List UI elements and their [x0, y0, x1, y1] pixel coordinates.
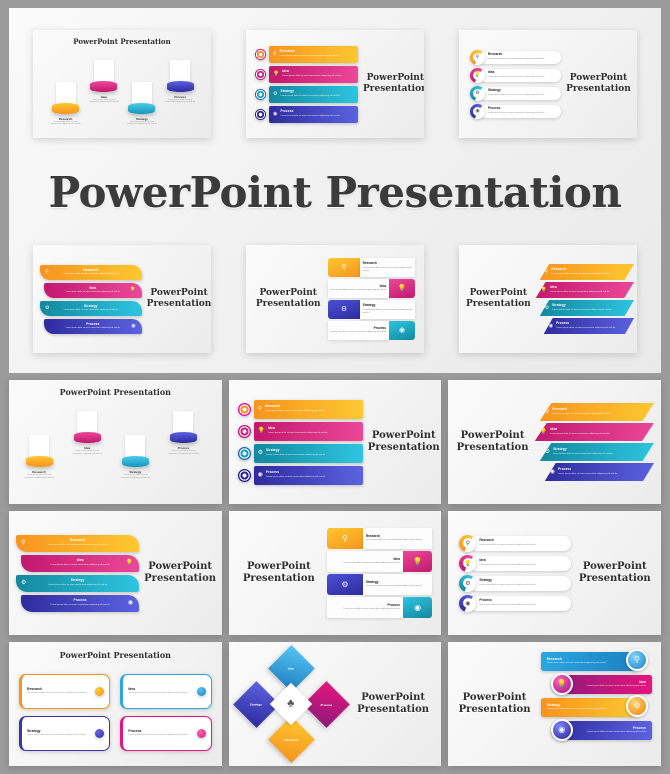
- grid-slide-diamond-cycle[interactable]: Idea Process Research Strategy ♣: [229, 642, 442, 766]
- step-item[interactable]: 💡 Idea Lorem ipsum dolor sit amet consec…: [238, 422, 363, 441]
- step-label: Idea: [380, 285, 386, 288]
- slide-title: PowerPoint Presentation: [73, 38, 170, 47]
- step-desc: Lorem ipsum dolor sit amet consectetur a…: [66, 327, 120, 330]
- step-item[interactable]: ⚙ Strategy Lorem ipsum dolor sit amet co…: [255, 86, 358, 103]
- lightbulb-icon: 💡: [413, 558, 423, 566]
- step-desc: Lorem ipsum dolor sit amet consectetur a…: [266, 476, 325, 479]
- step-item[interactable]: Research Lorem ipsum dolor sit amet cons…: [23, 435, 55, 480]
- step-desc: Lorem ipsum dolor sit amet consectetur a…: [366, 585, 433, 588]
- step-item[interactable]: Process Lorem ipsum dolor sit amet conse…: [328, 321, 415, 340]
- step-desc: Lorem ipsum dolor sit amet consectetur a…: [71, 450, 103, 456]
- step-label: Process: [374, 327, 386, 330]
- step-item[interactable]: Idea Lorem ipsum dolor sit amet consecte…: [89, 60, 119, 105]
- grid-slide-stacked-chevrons[interactable]: PowerPointPresentation ⚲ Research Lorem …: [448, 380, 661, 504]
- step-desc: Lorem ipsum dolor sit amet consectetur a…: [64, 309, 118, 312]
- slide-rounded-pills[interactable]: ⚲ Research Lorem ipsum dolor sit amet co…: [459, 30, 637, 138]
- slide-thumbnail-grid: PowerPoint Presentation Research Lorem i…: [9, 380, 661, 766]
- step-item[interactable]: ◉ Process Lorem ipsum dolor sit amet con…: [238, 466, 363, 485]
- step-desc: Lorem ipsum dolor sit amet consectetur a…: [282, 75, 341, 78]
- lightbulb-icon: 💡: [126, 560, 133, 566]
- slide-title: PowerPointPresentation: [363, 73, 424, 95]
- magnifier-icon: ⚲: [21, 540, 25, 546]
- step-label: Research: [479, 539, 535, 542]
- step-label: Research: [70, 539, 85, 542]
- target-ring-icon: [255, 49, 266, 60]
- step-item[interactable]: 💡 Idea Lorem ipsum dolor sit amet consec…: [536, 282, 634, 298]
- step-item[interactable]: Research Lorem ipsum dolor sit amet cons…: [51, 82, 81, 127]
- step-label: Research: [280, 50, 339, 53]
- step-desc: Lorem ipsum dolor sit amet consectetur a…: [344, 562, 400, 565]
- arc-ring-icon: ◉: [459, 595, 476, 612]
- step-desc: Lorem ipsum dolor sit amet consectetur a…: [553, 453, 612, 456]
- arc-ring-icon: 💡: [470, 68, 485, 83]
- lightbulb-icon: 💡: [273, 72, 279, 77]
- step-item[interactable]: Process Lorem ipsum dolor sit amet conse…: [165, 60, 195, 105]
- step-item[interactable]: ⚙ Strategy Lorem ipsum dolor sit amet co…: [328, 300, 415, 319]
- magnifier-bubble-icon: ⚲: [626, 649, 648, 671]
- step-item[interactable]: ◉ Process Lorem ipsum dolor sit amet con…: [545, 463, 654, 481]
- grid-slide-banded-rows[interactable]: ⚲ Research Lorem ipsum dolor sit amet co…: [229, 380, 442, 504]
- pills-graphic: ⚲ Research Lorem ipsum dolor sit amet co…: [466, 36, 561, 132]
- step-label: Strategy: [488, 89, 544, 92]
- lightbulb-icon: 💡: [258, 428, 265, 434]
- step-item[interactable]: ⚙ Strategy Lorem ipsum dolor sit amet co…: [238, 444, 363, 463]
- slide-title: PowerPoint Presentation: [60, 651, 171, 661]
- fingerprint-icon: ◉: [128, 600, 133, 606]
- bands-graphic: ⚲ Research Lorem ipsum dolor sit amet co…: [236, 386, 363, 498]
- page-title: PowerPoint Presentation: [33, 168, 637, 217]
- fingerprint-icon: ◉: [273, 112, 277, 117]
- step-desc: Lorem ipsum dolor sit amet consectetur a…: [48, 584, 107, 587]
- step-label: Strategy: [552, 304, 611, 307]
- grid-slide-rounded-quad-cards[interactable]: PowerPoint Presentation Research Lorem i…: [9, 642, 222, 766]
- step-desc: Lorem ipsum dolor sit amet consectetur a…: [547, 708, 606, 711]
- step-desc: Lorem ipsum dolor sit amet consectetur a…: [344, 608, 400, 611]
- gear-icon: ⚙: [273, 92, 277, 97]
- step-desc: Lorem ipsum dolor sit amet consectetur a…: [552, 413, 611, 416]
- step-label: Research: [366, 535, 433, 538]
- step-label: Research: [285, 737, 299, 741]
- step-desc: Lorem ipsum dolor sit amet consectetur a…: [50, 564, 109, 567]
- step-item[interactable]: 💡 Idea Lorem ipsum dolor sit amet consec…: [535, 423, 654, 441]
- step-label: Idea: [89, 287, 96, 290]
- step-item[interactable]: Process Lorem ipsum dolor sit amet conse…: [120, 716, 211, 751]
- step-item[interactable]: ◉ Process Lorem ipsum dolor sit amet con…: [459, 595, 570, 612]
- step-item[interactable]: ⚲ Research Lorem ipsum dolor sit amet co…: [470, 50, 561, 65]
- gear-icon: ⚙: [258, 450, 263, 456]
- step-label: Strategy: [363, 304, 415, 307]
- step-item[interactable]: Strategy Lorem ipsum dolor sit amet cons…: [127, 82, 157, 127]
- slide-title: PowerPointPresentation: [253, 288, 323, 310]
- step-item[interactable]: ⚲ Research Lorem ipsum dolor sit amet co…: [540, 264, 634, 280]
- fingerprint-badge-icon: [197, 729, 206, 738]
- step-item[interactable]: ⚙ Strategy Lorem ipsum dolor sit amet co…: [540, 300, 634, 316]
- step-desc: Lorem ipsum dolor sit amet consectetur a…: [488, 112, 544, 115]
- fingerprint-icon: ◉: [258, 472, 263, 478]
- step-desc: Lorem ipsum dolor sit amet consectetur a…: [280, 95, 339, 98]
- step-item[interactable]: ⚙ Strategy Lorem ipsum dolor sit amet co…: [16, 575, 139, 592]
- quad-card-grid: Research Lorem ipsum dolor sit amet cons…: [19, 674, 212, 757]
- step-desc: Lorem ipsum dolor sit amet consectetur a…: [479, 584, 535, 587]
- step-item[interactable]: ⚙ Strategy Lorem ipsum dolor sit amet co…: [459, 575, 570, 592]
- step-desc: Lorem ipsum dolor sit amet consectetur a…: [363, 309, 415, 315]
- arc-ring-icon: ⚲: [459, 535, 476, 552]
- magnifier-icon: ⚲: [258, 406, 262, 412]
- slide-title: PowerPointPresentation: [352, 692, 434, 716]
- slide-zigzag-cards[interactable]: PowerPointPresentation ⚲ Research Lorem …: [246, 245, 424, 353]
- step-item[interactable]: ⚲ Research Lorem ipsum dolor sit amet co…: [40, 265, 142, 280]
- arc-ring-icon: 💡: [459, 555, 476, 572]
- template-preview-page: PowerPoint Presentation Research Lorem i…: [0, 0, 670, 774]
- arc-ring-icon: ⚙: [470, 86, 485, 101]
- magnifier-icon: ⚲: [545, 270, 549, 275]
- magnifier-icon: ⚲: [342, 535, 348, 543]
- step-item[interactable]: Idea Lorem ipsum dolor sit amet consecte…: [71, 411, 103, 456]
- step-label: Strategy: [71, 579, 85, 582]
- step-label: Research: [488, 53, 544, 56]
- step-item[interactable]: ⚙ Strategy Lorem ipsum dolor sit amet co…: [470, 86, 561, 101]
- step-desc: Lorem ipsum dolor sit amet consectetur a…: [280, 115, 339, 118]
- fingerprint-icon: ◉: [414, 604, 421, 612]
- step-label: Process: [633, 727, 646, 730]
- step-desc: Lorem ipsum dolor sit amet consectetur a…: [119, 474, 151, 480]
- step-item[interactable]: ⚲ Research Lorem ipsum dolor sit amet co…: [328, 258, 415, 277]
- step-item[interactable]: Strategy Lorem ipsum dolor sit amet cons…: [19, 716, 110, 751]
- target-ring-icon: [238, 403, 251, 416]
- step-label: Idea: [282, 70, 341, 73]
- step-label: Idea: [550, 286, 609, 289]
- bands-graphic: ⚲ Research Lorem ipsum dolor sit amet co…: [253, 36, 358, 132]
- target-ring-icon: [238, 469, 251, 482]
- magnifier-icon: ⚲: [45, 270, 49, 275]
- step-desc: Lorem ipsum dolor sit amet consectetur a…: [330, 331, 386, 334]
- step-desc: Lorem ipsum dolor sit amet consectetur a…: [89, 99, 119, 105]
- pills-graphic: ⚲ Research Lorem ipsum dolor sit amet co…: [455, 517, 570, 629]
- magnifier-badge-icon: [95, 687, 104, 696]
- step-desc: Lorem ipsum dolor sit amet consectetur a…: [550, 433, 609, 436]
- step-desc: Lorem ipsum dolor sit amet consectetur a…: [550, 291, 609, 294]
- step-label: Research: [83, 269, 98, 272]
- diamond-graphic: Idea Process Research Strategy ♣: [236, 648, 347, 760]
- slide-title: PowerPoint Presentation: [60, 388, 171, 398]
- gear-bubble-icon: ⚙: [626, 695, 648, 717]
- slide-title: PowerPointPresentation: [455, 692, 533, 716]
- step-desc: Lorem ipsum dolor sit amet consectetur a…: [128, 692, 187, 695]
- step-label: Idea: [393, 558, 399, 561]
- target-ring-icon: [238, 425, 251, 438]
- gear-icon: ⚙: [545, 449, 550, 455]
- step-item[interactable]: ⚲ Research Lorem ipsum dolor sit amet co…: [327, 528, 432, 549]
- tree-icon: ♣: [288, 698, 295, 710]
- step-desc: Lorem ipsum dolor sit amet consectetur a…: [127, 121, 157, 127]
- step-item[interactable]: 💡 Idea Lorem ipsum dolor sit amet consec…: [255, 66, 358, 83]
- step-desc: Lorem ipsum dolor sit amet consectetur a…: [587, 731, 646, 734]
- gear-icon: ⚙: [45, 306, 49, 311]
- tab-bubbles-graphic: Research Lorem ipsum dolor sit amet cons…: [539, 648, 654, 760]
- slide-title: PowerPointPresentation: [576, 561, 654, 585]
- gear-icon: ⚙: [341, 306, 347, 313]
- center-hub: ♣: [270, 683, 312, 725]
- step-desc: Lorem ipsum dolor sit amet consectetur a…: [558, 473, 617, 476]
- step-label: Idea: [479, 559, 535, 562]
- step-label: Research: [265, 405, 324, 408]
- step-desc: Lorem ipsum dolor sit amet consectetur a…: [51, 121, 81, 127]
- step-item[interactable]: 💡 Idea Lorem ipsum dolor sit amet consec…: [21, 555, 139, 572]
- hero-top-slide-row: PowerPoint Presentation Research Lorem i…: [33, 30, 637, 138]
- gear-icon: ⚙: [545, 306, 549, 311]
- step-label: Strategy: [366, 581, 433, 584]
- step-item[interactable]: ◉ Process Lorem ipsum dolor sit amet con…: [44, 319, 142, 334]
- target-ring-icon: [255, 109, 266, 120]
- hero-title-wrap: PowerPoint Presentation: [33, 164, 637, 219]
- arc-ring-icon: ◉: [470, 104, 485, 119]
- step-desc: Lorem ipsum dolor sit amet consectetur a…: [547, 662, 606, 665]
- step-label: Research: [551, 268, 610, 271]
- step-label: Strategy: [553, 448, 612, 451]
- zigzag-graphic: ⚲ Research Lorem ipsum dolor sit amet co…: [327, 517, 434, 629]
- step-label: Strategy: [479, 579, 535, 582]
- step-item[interactable]: ◉ Process Lorem ipsum dolor sit amet con…: [21, 595, 139, 612]
- step-item[interactable]: ⚲ Research Lorem ipsum dolor sit amet co…: [540, 403, 654, 421]
- step-item[interactable]: Idea Lorem ipsum dolor sit amet consecte…: [328, 279, 415, 298]
- step-desc: Lorem ipsum dolor sit amet consectetur a…: [167, 450, 199, 456]
- fingerprint-bubble-icon: ◉: [551, 719, 573, 741]
- step-label: Process: [128, 729, 187, 733]
- step-label: Process: [488, 107, 544, 110]
- step-label: Strategy: [280, 90, 339, 93]
- step-item[interactable]: ⚙ Strategy Lorem ipsum dolor sit amet co…: [40, 301, 142, 316]
- step-desc: Lorem ipsum dolor sit amet consectetur a…: [48, 544, 107, 547]
- magnifier-icon: ⚲: [341, 264, 346, 271]
- gear-badge-icon: [95, 729, 104, 738]
- lightbulb-icon: 💡: [129, 288, 135, 293]
- step-item[interactable]: ⚲ Research Lorem ipsum dolor sit amet co…: [16, 535, 139, 552]
- step-label: Process: [86, 323, 99, 326]
- step-label: Strategy: [547, 704, 606, 707]
- step-desc: Lorem ipsum dolor sit amet consectetur a…: [64, 273, 118, 276]
- step-label: Idea: [488, 71, 544, 74]
- step-label: Idea: [128, 687, 187, 691]
- slide-title: PowerPointPresentation: [466, 288, 531, 310]
- lightbulb-icon: 💡: [398, 285, 407, 292]
- step-item[interactable]: Process Lorem ipsum dolor sit amet conse…: [167, 411, 199, 456]
- step-label: Idea: [289, 666, 295, 670]
- target-ring-icon: [238, 447, 251, 460]
- grid-slide-rounded-pills[interactable]: ⚲ Research Lorem ipsum dolor sit amet co…: [448, 511, 661, 635]
- step-desc: Lorem ipsum dolor sit amet consectetur a…: [587, 685, 646, 688]
- step-item[interactable]: ⚲ Research Lorem ipsum dolor sit amet co…: [255, 46, 358, 63]
- step-label: Idea: [550, 428, 609, 431]
- step-item[interactable]: Research Lorem ipsum dolor sit amet cons…: [19, 674, 110, 709]
- magnifier-icon: ⚲: [273, 52, 277, 57]
- step-desc: Lorem ipsum dolor sit amet consectetur a…: [27, 734, 86, 737]
- step-desc: Lorem ipsum dolor sit amet consectetur a…: [479, 604, 535, 607]
- magnifier-icon: ⚲: [545, 409, 549, 415]
- step-desc: Lorem ipsum dolor sit amet consectetur a…: [330, 289, 386, 292]
- step-item[interactable]: Process Lorem ipsum dolor sit amet conse…: [327, 597, 432, 618]
- step-desc: Lorem ipsum dolor sit amet consectetur a…: [556, 327, 615, 330]
- step-desc: Lorem ipsum dolor sit amet consectetur a…: [66, 291, 120, 294]
- gear-icon: ⚙: [341, 581, 348, 589]
- lightbulb-icon: 💡: [540, 429, 547, 435]
- step-desc: Lorem ipsum dolor sit amet consectetur a…: [551, 273, 610, 276]
- step-label: Process: [74, 599, 87, 602]
- slide-title: PowerPointPresentation: [455, 430, 529, 454]
- step-label: Research: [363, 262, 415, 265]
- fingerprint-icon: ◉: [131, 324, 135, 329]
- step-label: Research: [552, 408, 611, 411]
- step-item[interactable]: ⚙ Strategy Lorem ipsum dolor sit amet co…: [540, 443, 654, 461]
- step-label: Strategy: [27, 729, 86, 733]
- step-item[interactable]: ◉ Process Lorem ipsum dolor sit amet con…: [544, 318, 634, 334]
- step-item[interactable]: Idea Lorem ipsum dolor sit amet consecte…: [120, 674, 211, 709]
- step-desc: Lorem ipsum dolor sit amet consectetur a…: [27, 692, 86, 695]
- step-desc: Lorem ipsum dolor sit amet consectetur a…: [268, 432, 327, 435]
- step-desc: Lorem ipsum dolor sit amet consectetur a…: [479, 544, 535, 547]
- step-label: Research: [27, 687, 86, 691]
- step-desc: Lorem ipsum dolor sit amet consectetur a…: [488, 94, 544, 97]
- step-desc: Lorem ipsum dolor sit amet consectetur a…: [165, 99, 195, 105]
- target-ring-icon: [255, 69, 266, 80]
- step-item[interactable]: ⚲ Research Lorem ipsum dolor sit amet co…: [238, 400, 363, 419]
- step-item[interactable]: ◉ Process Lorem ipsum dolor sit amet con…: [255, 106, 358, 123]
- slide-title: PowerPointPresentation: [566, 73, 631, 95]
- step-desc: Lorem ipsum dolor sit amet consectetur a…: [265, 410, 324, 413]
- target-ring-icon: [255, 89, 266, 100]
- step-item[interactable]: Idea Lorem ipsum dolor sit amet consecte…: [327, 551, 432, 572]
- slide-cylinder-4-step[interactable]: PowerPoint Presentation Research Lorem i…: [33, 30, 211, 138]
- slide-title: PowerPointPresentation: [144, 561, 216, 585]
- step-label: Strategy: [266, 449, 325, 452]
- step-item[interactable]: ⚙ Strategy Lorem ipsum dolor sit amet co…: [327, 574, 432, 595]
- step-label: Strategy: [250, 702, 262, 706]
- step-desc: Lorem ipsum dolor sit amet consectetur a…: [488, 76, 544, 79]
- fingerprint-icon: ◉: [399, 327, 405, 334]
- step-label: Process: [266, 471, 325, 474]
- step-item[interactable]: ⚲ Research Lorem ipsum dolor sit amet co…: [459, 535, 570, 552]
- grid-slide-cylinder-4-step[interactable]: PowerPoint Presentation Research Lorem i…: [9, 380, 222, 504]
- chevrons-graphic: ⚲ Research Lorem ipsum dolor sit amet co…: [535, 386, 654, 498]
- step-label: Process: [558, 468, 617, 471]
- step-label: Process: [556, 322, 615, 325]
- step-desc: Lorem ipsum dolor sit amet consectetur a…: [479, 564, 535, 567]
- lightbulb-badge-icon: [197, 687, 206, 696]
- step-item[interactable]: ◉ Process Lorem ipsum dolor sit amet con…: [470, 104, 561, 119]
- step-label: Research: [547, 658, 606, 661]
- step-label: Process: [280, 110, 339, 113]
- arc-ring-icon: ⚙: [459, 575, 476, 592]
- zigzag-graphic: ⚲ Research Lorem ipsum dolor sit amet co…: [328, 251, 417, 347]
- fingerprint-icon: ◉: [549, 324, 553, 329]
- cylinder-graphic: Research Lorem ipsum dolor sit amet cons…: [39, 52, 205, 130]
- grid-slide-zigzag-cards[interactable]: PowerPointPresentation ⚲ Research Lorem …: [229, 511, 442, 635]
- slide-ribbon-banners[interactable]: ⚲ Research Lorem ipsum dolor sit amet co…: [33, 245, 211, 353]
- slide-title: PowerPointPresentation: [147, 288, 211, 310]
- slide-stacked-chevrons[interactable]: PowerPointPresentation ⚲ Research Lorem …: [459, 245, 637, 353]
- lightbulb-bubble-icon: 💡: [551, 673, 573, 695]
- fingerprint-icon: ◉: [550, 469, 555, 475]
- arc-ring-icon: ⚲: [470, 50, 485, 65]
- step-desc: Lorem ipsum dolor sit amet consectetur a…: [363, 267, 415, 273]
- step-desc: Lorem ipsum dolor sit amet consectetur a…: [488, 58, 544, 61]
- step-label: Idea: [268, 427, 327, 430]
- step-desc: Lorem ipsum dolor sit amet consectetur a…: [552, 309, 611, 312]
- step-desc: Lorem ipsum dolor sit amet consectetur a…: [23, 474, 55, 480]
- step-desc: Lorem ipsum dolor sit amet consectetur a…: [50, 604, 109, 607]
- grid-slide-tab-bubbles[interactable]: PowerPointPresentation Research Lorem ip…: [448, 642, 661, 766]
- step-desc: Lorem ipsum dolor sit amet consectetur a…: [280, 55, 339, 58]
- step-item[interactable]: 💡 Idea Lorem ipsum dolor sit amet consec…: [459, 555, 570, 572]
- cylinder-graphic: Research Lorem ipsum dolor sit amet cons…: [15, 403, 216, 496]
- hero-bottom-slide-row: ⚲ Research Lorem ipsum dolor sit amet co…: [33, 245, 637, 353]
- step-desc: Lorem ipsum dolor sit amet consectetur a…: [266, 454, 325, 457]
- step-label: Idea: [639, 681, 646, 684]
- step-label: Process: [479, 599, 535, 602]
- step-item[interactable]: Strategy Lorem ipsum dolor sit amet cons…: [119, 435, 151, 480]
- step-item[interactable]: 💡 Idea Lorem ipsum dolor sit amet consec…: [470, 68, 561, 83]
- slide-banded-rows[interactable]: ⚲ Research Lorem ipsum dolor sit amet co…: [246, 30, 424, 138]
- hero-banner: PowerPoint Presentation Research Lorem i…: [9, 8, 661, 373]
- lightbulb-icon: 💡: [541, 288, 547, 293]
- gear-icon: ⚙: [21, 580, 26, 586]
- slide-title: PowerPointPresentation: [236, 561, 322, 585]
- ribbons-graphic: ⚲ Research Lorem ipsum dolor sit amet co…: [40, 251, 142, 347]
- step-item[interactable]: 💡 Idea Lorem ipsum dolor sit amet consec…: [44, 283, 142, 298]
- step-label: Process: [321, 703, 333, 707]
- step-label: Process: [387, 604, 399, 607]
- ribbons-graphic: ⚲ Research Lorem ipsum dolor sit amet co…: [16, 517, 139, 629]
- step-desc: Lorem ipsum dolor sit amet consectetur a…: [128, 734, 187, 737]
- grid-slide-ribbon-banners[interactable]: ⚲ Research Lorem ipsum dolor sit amet co…: [9, 511, 222, 635]
- step-label: Strategy: [84, 305, 98, 308]
- step-label: Idea: [77, 559, 84, 562]
- step-desc: Lorem ipsum dolor sit amet consectetur a…: [366, 539, 433, 542]
- chevrons-graphic: ⚲ Research Lorem ipsum dolor sit amet co…: [536, 251, 634, 347]
- slide-title: PowerPointPresentation: [368, 430, 440, 454]
